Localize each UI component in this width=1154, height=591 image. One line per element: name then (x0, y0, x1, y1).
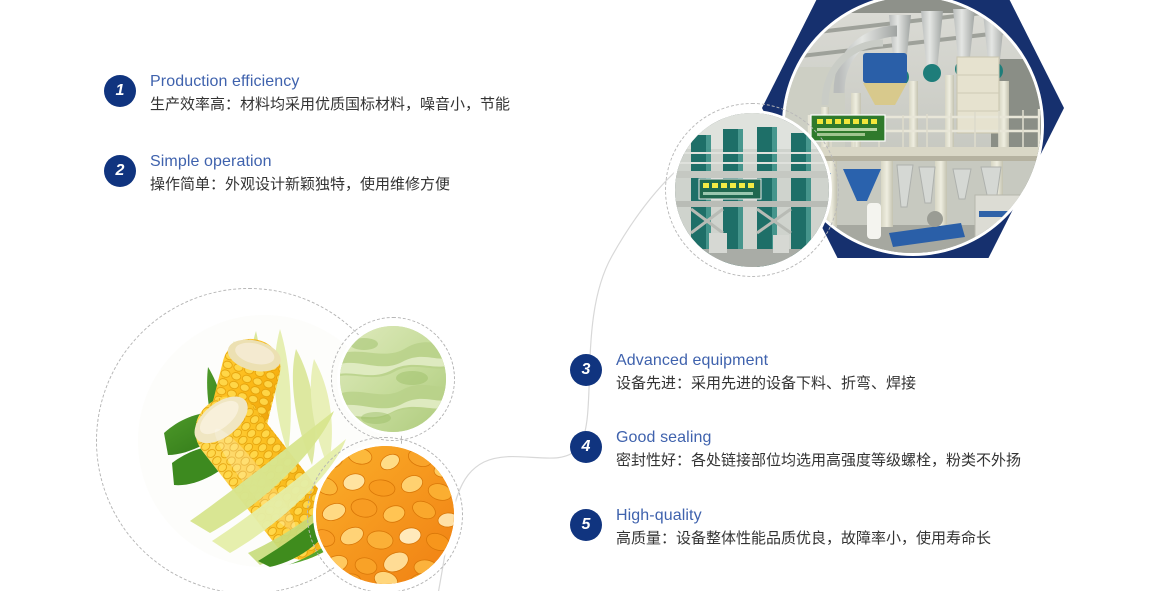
feature-description-3: 设备先进：采用先进的设备下料、折弯、焊接 (616, 372, 916, 396)
feature-number-badge-1: 1 (104, 75, 136, 107)
feature-text-1: Production efficiency 生产效率高：材料均采用优质国标材料，… (150, 72, 510, 117)
feature-item-2: 2 Simple operation 操作简单：外观设计新颖独特，使用维修方便 (104, 152, 450, 197)
feature-text-5: High-quality 高质量：设备整体性能品质优良，故障率小，使用寿命长 (616, 506, 991, 551)
feature-title-2: Simple operation (150, 152, 450, 172)
feature-number-badge-5: 5 (570, 509, 602, 541)
grits-photo-module (313, 443, 457, 587)
feature-item-5: 5 High-quality 高质量：设备整体性能品质优良，故障率小，使用寿命长 (570, 506, 991, 551)
feature-title-3: Advanced equipment (616, 351, 916, 371)
feature-title-4: Good sealing (616, 428, 1021, 448)
feature-text-4: Good sealing 密封性好：各处链接部位均选用高强度等级螺栓，粉类不外扬 (616, 428, 1021, 473)
feature-description-2: 操作简单：外观设计新颖独特，使用维修方便 (150, 173, 450, 197)
corn-paste-photo (337, 323, 449, 435)
paste-photo-module (337, 323, 449, 435)
mini-photo-module (672, 110, 832, 270)
feature-text-3: Advanced equipment 设备先进：采用先进的设备下料、折弯、焊接 (616, 351, 916, 396)
feature-number-badge-4: 4 (570, 431, 602, 463)
feature-item-3: 3 Advanced equipment 设备先进：采用先进的设备下料、折弯、焊… (570, 351, 916, 396)
feature-number-badge-3: 3 (570, 354, 602, 386)
green-milling-machinery-photo (672, 110, 832, 270)
feature-text-2: Simple operation 操作简单：外观设计新颖独特，使用维修方便 (150, 152, 450, 197)
feature-number-badge-2: 2 (104, 155, 136, 187)
feature-item-4: 4 Good sealing 密封性好：各处链接部位均选用高强度等级螺栓，粉类不… (570, 428, 1021, 473)
feature-description-4: 密封性好：各处链接部位均选用高强度等级螺栓，粉类不外扬 (616, 449, 1021, 473)
feature-description-5: 高质量：设备整体性能品质优良，故障率小，使用寿命长 (616, 527, 991, 551)
feature-title-5: High-quality (616, 506, 991, 526)
feature-title-1: Production efficiency (150, 72, 510, 92)
feature-description-1: 生产效率高：材料均采用优质国标材料，噪音小，节能 (150, 93, 510, 117)
corn-grits-photo (313, 443, 457, 587)
feature-item-1: 1 Production efficiency 生产效率高：材料均采用优质国标材… (104, 72, 510, 117)
infographic-canvas: 1 Production efficiency 生产效率高：材料均采用优质国标材… (0, 0, 1154, 591)
